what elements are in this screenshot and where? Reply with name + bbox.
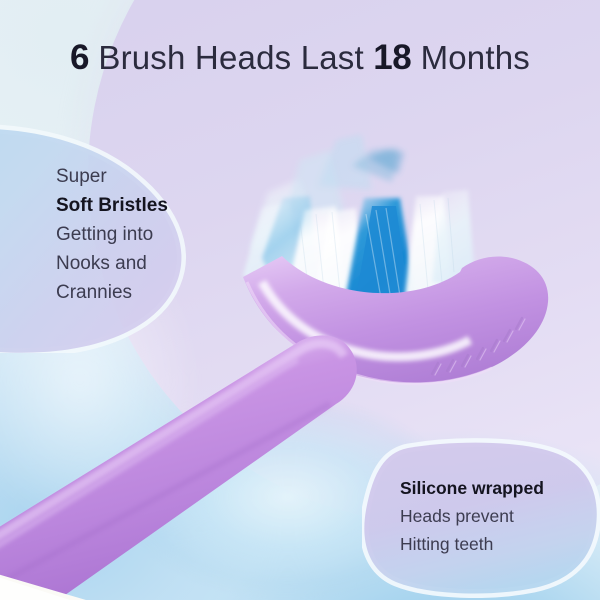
brush-handle [0, 335, 357, 600]
callout-right-line-1: Heads prevent [400, 502, 600, 530]
headline-unit: Months [421, 39, 530, 76]
callout-left-line-0: Super [56, 162, 246, 191]
callout-left-line-3: Nooks and [56, 249, 246, 278]
callout-left-line-1: Soft Bristles [56, 191, 246, 220]
headline-middle: Brush Heads Last [98, 39, 364, 76]
infographic-canvas: 6 Brush Heads Last 18 Months Super Soft … [0, 0, 600, 600]
callout-left-line-4: Crannies [56, 278, 246, 307]
callout-left-line-2: Getting into [56, 220, 246, 249]
callout-soft-bristles: Super Soft Bristles Getting into Nooks a… [0, 118, 240, 353]
callout-silicone-wrapped: Silicone wrapped Heads prevent Hitting t… [362, 438, 600, 598]
callout-right-line-0: Silicone wrapped [400, 474, 600, 502]
headline-months-number: 18 [373, 38, 411, 77]
callout-right-line-2: Hitting teeth [400, 530, 600, 558]
page-title: 6 Brush Heads Last 18 Months [0, 38, 600, 78]
headline-count: 6 [70, 38, 89, 77]
callout-right-text: Silicone wrapped Heads prevent Hitting t… [400, 474, 600, 558]
callout-left-text: Super Soft Bristles Getting into Nooks a… [56, 162, 246, 307]
